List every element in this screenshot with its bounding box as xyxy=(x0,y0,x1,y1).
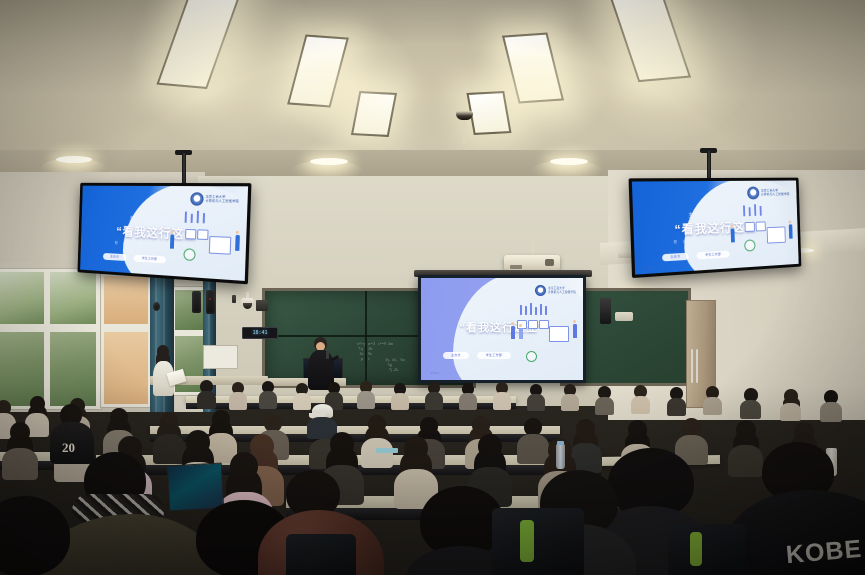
window-pane-orange-building xyxy=(104,332,148,404)
backpack xyxy=(492,508,584,575)
left-wall-tv[interactable]: 北京工商大学 计算机与人工智能学院 主讲人 王辉 指矿告 “看我这行这业” 职 … xyxy=(77,183,251,285)
tv-org-line-2: 计算机与人工智能学院 xyxy=(205,199,239,203)
right-tv-screen: 北京工商大学 计算机与人工智能学院 主讲人 王辉 指矿告 “看我这行这业” 职 … xyxy=(632,180,799,274)
right-wall-tv[interactable]: 北京工商大学 计算机与人工智能学院 主讲人 王辉 指矿告 “看我这行这业” 职 … xyxy=(629,178,802,278)
wall-speaker-left xyxy=(192,291,201,313)
backpack-strap xyxy=(520,520,534,562)
wall-vent xyxy=(615,312,633,321)
left-tv-screen: 北京工商大学 计算机与人工智能学院 主讲人 王辉 指矿告 “看我这行这业” 职 … xyxy=(80,186,248,281)
left-tv-pole xyxy=(182,153,186,183)
tv-university-logo: 北京工商大学 计算机与人工智能学院 xyxy=(190,192,239,206)
slide-kicker: 主讲人 王辉 指矿告 xyxy=(421,311,583,317)
digital-clock[interactable]: 18:41 xyxy=(242,327,278,339)
window-pane-orange-building xyxy=(104,276,148,324)
tv2-org-line-2: 计算机与人工智能学院 xyxy=(761,192,790,196)
tv2-footer: 2024 xyxy=(646,266,655,270)
ceiling-projector xyxy=(504,255,560,271)
main-projection-screen: 北京工商大学 计算机与人工智能学院 主讲人 王辉 指矿告 “看我这行这业” 职 … xyxy=(418,275,586,383)
microphone xyxy=(326,351,329,359)
desk-item-notebook xyxy=(376,448,398,453)
university-logo: 北京工商大学 计算机与人工智能学院 xyxy=(535,285,576,296)
backpack-2 xyxy=(668,524,746,575)
window-pane xyxy=(0,272,44,324)
wall-speaker-right xyxy=(600,298,611,324)
lecture-hall-photo: x²+y n=3 c²=9 4m 7q 2b 4c 9z p t 3y, 4x,… xyxy=(0,0,865,575)
org-line-2: 计算机与人工智能学院 xyxy=(548,291,576,294)
jersey-number: 20 xyxy=(62,440,75,456)
tv2-university-logo: 北京工商大学 计算机与人工智能学院 xyxy=(747,186,790,199)
ceiling-light-wash xyxy=(0,0,865,172)
slide-content: 北京工商大学 计算机与人工智能学院 主讲人 王辉 指矿告 “看我这行这业” 职 … xyxy=(421,278,583,380)
ceiling-camera-stem xyxy=(463,118,466,144)
slide-pill-left: 主办方 xyxy=(443,352,469,359)
slide-pill-right: 学生工作部 xyxy=(477,352,511,359)
window-pane xyxy=(50,272,96,324)
window-pane xyxy=(0,332,44,406)
window-pane xyxy=(50,332,96,406)
right-tv-pole xyxy=(707,151,711,179)
open-laptop[interactable] xyxy=(167,463,224,512)
tv-pill-left: 主办方 xyxy=(103,253,126,261)
slide-footer: 2024 xyxy=(431,372,439,375)
university-seal-icon xyxy=(535,285,546,296)
wall-sensor xyxy=(232,295,236,303)
clock-time: 18:41 xyxy=(252,330,267,336)
bottle-cap xyxy=(557,441,564,445)
wall-speaker-left-2 xyxy=(206,290,215,314)
ceiling-panel-light-6 xyxy=(466,91,511,135)
downlight xyxy=(550,158,588,165)
water-bottle xyxy=(556,444,565,469)
tv2-pill-left: 主办方 xyxy=(662,253,689,261)
ceiling-dome-camera-icon xyxy=(456,111,473,120)
ceiling-speaker-small xyxy=(153,302,160,311)
downlight xyxy=(310,158,348,165)
wall-dome-camera xyxy=(240,292,255,310)
wall-control-box xyxy=(256,300,268,311)
downlight xyxy=(56,156,92,163)
whiteboard-panel xyxy=(203,345,238,369)
tv-footer: 2024 xyxy=(89,264,96,267)
backpack-strap-2 xyxy=(690,532,702,566)
backpack-3 xyxy=(286,534,356,575)
